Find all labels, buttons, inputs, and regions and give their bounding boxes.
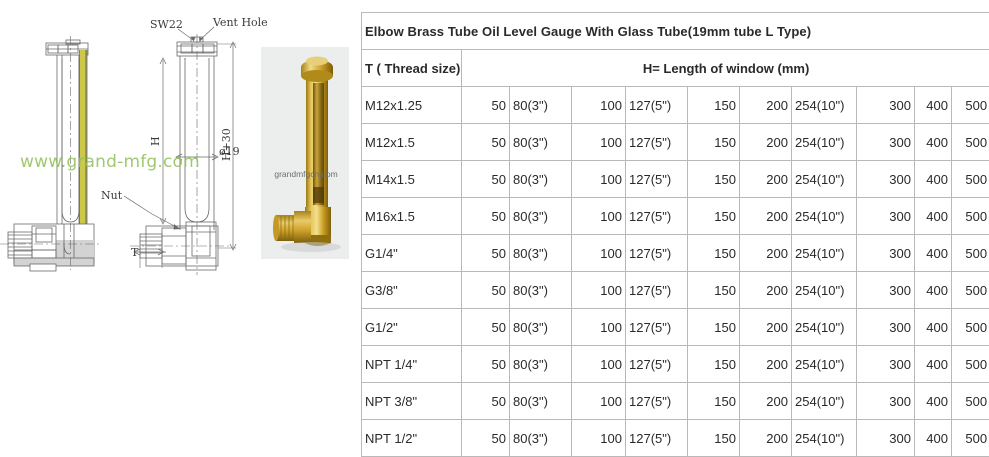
cell-window-length: 100 [572,124,626,161]
cell-window-length: 150 [688,124,740,161]
cell-thread-size: M16x1.5 [362,198,462,235]
cell-window-length: 150 [688,87,740,124]
specification-table-container: Elbow Brass Tube Oil Level Gauge With Gl… [361,12,989,457]
cell-window-length: 500 [952,161,989,198]
cell-window-length: 50 [462,383,510,420]
cell-window-length: 127(5") [626,87,688,124]
table-row: M16x1.55080(3")100127(5")150200254(10")3… [362,198,989,235]
cell-window-length: 127(5") [626,272,688,309]
cell-window-length: 500 [952,309,989,346]
table-subheader-row: T ( Thread size) H= Length of window (mm… [362,50,989,87]
cell-window-length: 200 [740,198,792,235]
cell-window-length: 50 [462,235,510,272]
cell-window-length: 300 [857,309,915,346]
cell-window-length: 300 [857,272,915,309]
cell-window-length: 50 [462,161,510,198]
cell-window-length: 200 [740,124,792,161]
cell-window-length: 50 [462,272,510,309]
cell-window-length: 500 [952,272,989,309]
table-row: M12x1.255080(3")100127(5")150200254(10")… [362,87,989,124]
cell-window-length: 400 [915,272,952,309]
table-row: G1/4"5080(3")100127(5")150200254(10")300… [362,235,989,272]
cell-window-length: 50 [462,124,510,161]
cell-thread-size: G3/8" [362,272,462,309]
cross-section-view [0,36,100,271]
cell-window-length: 300 [857,161,915,198]
label-nut: Nut [101,189,123,202]
table-row: G1/2"5080(3")100127(5")150200254(10")300… [362,309,989,346]
cell-window-length: 500 [952,198,989,235]
cell-window-length: 400 [915,309,952,346]
cell-window-length: 80(3") [510,272,572,309]
table-row: NPT 1/4"5080(3")100127(5")150200254(10")… [362,346,989,383]
cell-window-length: 100 [572,383,626,420]
cell-window-length: 400 [915,124,952,161]
cell-window-length: 150 [688,198,740,235]
cell-window-length: 127(5") [626,124,688,161]
cell-window-length: 254(10") [792,124,857,161]
cell-thread-size: NPT 1/4" [362,346,462,383]
cell-window-length: 500 [952,87,989,124]
label-sw22: SW22 [150,18,183,31]
column-header-thread-size: T ( Thread size) [362,50,462,87]
label-thread-t: T [131,246,139,259]
cell-window-length: 50 [462,309,510,346]
cell-window-length: 254(10") [792,346,857,383]
cell-window-length: 200 [740,383,792,420]
product-photo: grandmfgcn.com [261,47,349,259]
cell-window-length: 100 [572,346,626,383]
page-title: Elbow Brass Tube Oil Level Gauge With Gl… [362,13,989,50]
cell-window-length: 100 [572,272,626,309]
cell-window-length: 127(5") [626,161,688,198]
cell-window-length: 127(5") [626,346,688,383]
cell-window-length: 300 [857,87,915,124]
cell-window-length: 400 [915,346,952,383]
cell-window-length: 127(5") [626,198,688,235]
cell-window-length: 200 [740,346,792,383]
cell-window-length: 300 [857,124,915,161]
cell-window-length: 500 [952,124,989,161]
cell-window-length: 150 [688,383,740,420]
cell-thread-size: G1/2" [362,309,462,346]
cell-window-length: 300 [857,198,915,235]
label-diameter-19: ø19 [219,145,240,158]
cell-window-length: 80(3") [510,309,572,346]
cell-window-length: 200 [740,235,792,272]
cell-window-length: 127(5") [626,309,688,346]
cell-window-length: 80(3") [510,124,572,161]
cell-window-length: 254(10") [792,161,857,198]
cell-window-length: 100 [572,235,626,272]
cell-window-length: 100 [572,309,626,346]
cell-window-length: 80(3") [510,346,572,383]
cell-window-length: 500 [952,383,989,420]
table-row: NPT 3/8"5080(3")100127(5")150200254(10")… [362,383,989,420]
cell-window-length: 500 [952,235,989,272]
cell-window-length: 400 [915,383,952,420]
cell-thread-size: M12x1.5 [362,124,462,161]
cell-window-length: 150 [688,346,740,383]
cell-window-length: 80(3") [510,383,572,420]
cell-window-length: 150 [688,235,740,272]
cell-window-length: 100 [572,198,626,235]
cell-window-length: 254(10") [792,383,857,420]
cell-window-length: 400 [915,235,952,272]
cell-window-length: 200 [740,87,792,124]
cell-window-length: 254(10") [792,309,857,346]
cell-window-length: 50 [462,87,510,124]
cell-window-length: 254(10") [792,272,857,309]
cell-window-length: 254(10") [792,87,857,124]
label-height-h: H [149,136,162,146]
cell-window-length: 50 [462,198,510,235]
cell-window-length: 80(3") [510,235,572,272]
cell-window-length: 200 [740,309,792,346]
cell-window-length: 254(10") [792,198,857,235]
cell-thread-size: M12x1.25 [362,87,462,124]
cell-window-length: 300 [857,383,915,420]
cell-window-length: 300 [857,235,915,272]
cell-window-length: 100 [572,161,626,198]
specification-table: Elbow Brass Tube Oil Level Gauge With Gl… [361,12,989,457]
table-title-row: Elbow Brass Tube Oil Level Gauge With Gl… [362,13,989,50]
table-row: M14x1.55080(3")100127(5")150200254(10")3… [362,161,989,198]
cell-thread-size: NPT 3/8" [362,383,462,420]
cell-window-length: 400 [915,161,952,198]
cell-window-length: 500 [952,346,989,383]
cell-window-length: 150 [688,272,740,309]
cell-window-length: 400 [915,198,952,235]
cell-window-length: 200 [740,161,792,198]
cell-window-length: 200 [740,272,792,309]
cell-window-length: 127(5") [626,383,688,420]
cell-window-length: 400 [915,87,952,124]
cell-thread-size: M14x1.5 [362,161,462,198]
label-vent-hole: Vent Hole [212,16,268,29]
cell-window-length: 254(10") [792,235,857,272]
cell-thread-size: G1/4" [362,235,462,272]
cell-window-length: 100 [572,87,626,124]
cell-window-length: 50 [462,346,510,383]
cell-window-length: 80(3") [510,161,572,198]
product-photo-illustration [261,47,349,259]
cell-window-length: 150 [688,161,740,198]
cell-window-length: 150 [688,309,740,346]
cell-window-length: 300 [857,346,915,383]
cell-window-length: 80(3") [510,198,572,235]
table-row: G3/8"5080(3")100127(5")150200254(10")300… [362,272,989,309]
column-header-window-length: H= Length of window (mm) [462,50,989,87]
table-row: M12x1.55080(3")100127(5")150200254(10")3… [362,124,989,161]
cell-window-length: 80(3") [510,87,572,124]
cell-window-length: 127(5") [626,235,688,272]
